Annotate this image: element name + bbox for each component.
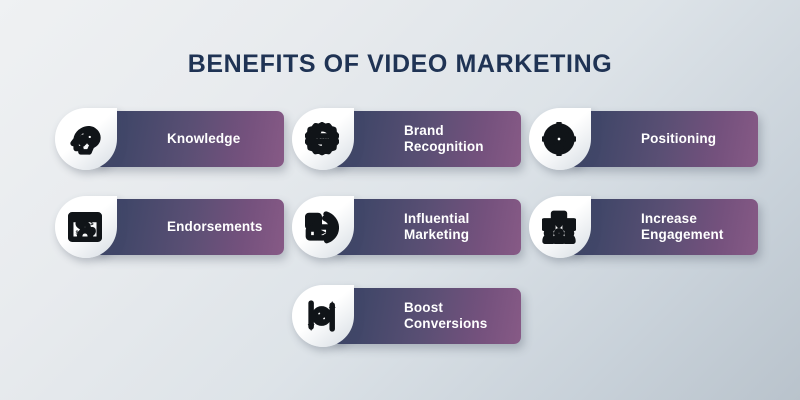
radar-target-icon [529,108,591,170]
benefit-card-influential-marketing[interactable]: Influential Marketing [292,196,521,258]
benefit-card-knowledge[interactable]: Knowledge [55,108,284,170]
people-hearts-icon-glyph [542,210,576,244]
card-bar: Boost Conversions [332,288,521,344]
page-title: BENEFITS OF VIDEO MARKETING [0,50,800,79]
people-hearts-icon [529,196,591,258]
arrows-percent-icon-glyph [305,299,339,333]
card-label-positioning: Positioning [641,111,757,167]
arrows-percent-icon [292,285,354,347]
brand-badge-icon-glyph: BRAND [305,122,339,156]
radar-target-icon-glyph [542,122,576,156]
card-label-influential-marketing: Influential Marketing [404,199,520,255]
benefit-card-boost-conversions[interactable]: Boost Conversions [292,285,521,347]
benefit-card-brand-recognition[interactable]: Brand Recognition BRAND [292,108,521,170]
brand-badge-icon: BRAND [292,108,354,170]
brand-badge-text: BRAND [314,136,330,141]
media-play-icon-glyph [305,210,339,244]
card-label-boost-conversions: Boost Conversions [404,288,520,344]
infographic-canvas: BENEFITS OF VIDEO MARKETING Knowledge Br… [0,0,800,400]
card-label-endorsements: Endorsements [167,199,283,255]
card-label-knowledge: Knowledge [167,111,283,167]
card-label-increase-engagement: Increase Engagement [641,199,757,255]
card-bar: Increase Engagement [569,199,758,255]
browser-person-icon-glyph: $ $ [68,210,102,244]
browser-person-icon: $ $ [55,196,117,258]
card-label-brand-recognition: Brand Recognition [404,111,520,167]
benefit-card-positioning[interactable]: Positioning [529,108,758,170]
card-bar: Brand Recognition [332,111,521,167]
card-bar: Endorsements [95,199,284,255]
svg-text:$: $ [75,230,78,236]
card-bar: Influential Marketing [332,199,521,255]
media-play-icon [292,196,354,258]
benefit-card-endorsements[interactable]: Endorsements $ $ [55,196,284,258]
card-bar: Positioning [569,111,758,167]
card-bar: Knowledge [95,111,284,167]
benefit-card-increase-engagement[interactable]: Increase Engagement [529,196,758,258]
head-gears-icon [55,108,117,170]
head-gears-icon-glyph [68,122,102,156]
